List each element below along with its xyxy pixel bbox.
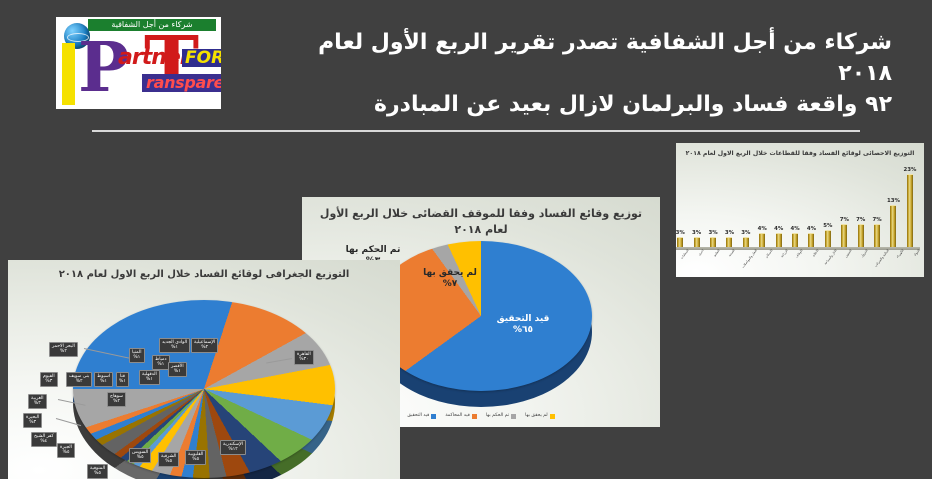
bar	[694, 237, 700, 247]
bar-column: 3%	[721, 164, 737, 247]
slice-value: ٦٥%	[513, 325, 533, 335]
geographic-pie-panel: التوزيع الجغرافى لوقائع الفساد خلال الرب…	[8, 260, 400, 479]
judicial-slice-label-uninvestigated: لم يحقق بها ٧%	[414, 268, 486, 290]
legend-item[interactable]: تم الحكم بها	[486, 413, 516, 419]
bar-column: 23%	[902, 164, 918, 247]
callout-region-value: ٤%	[34, 439, 54, 444]
geographic-slice-callout: السويس٥%	[129, 448, 151, 463]
logo-for-text: FOR	[182, 49, 221, 67]
bar-value-label: 4%	[758, 226, 767, 232]
geographic-slice-callout: الإسماعيلية٢%	[191, 338, 218, 353]
geographic-slice-callout: الإسكندرية١٢%	[220, 440, 246, 455]
callout-region-value: ١٢%	[223, 447, 243, 452]
legend-item[interactable]: قيد التحقيق	[407, 413, 436, 419]
geographic-slice-callout: قنا١%	[116, 372, 129, 387]
legend-swatch	[431, 414, 436, 419]
geographic-slice-callout: كفر الشيخ٤%	[31, 432, 57, 447]
geographic-slice-callout: القليوبية٥%	[185, 450, 206, 465]
legend-label: تم الحكم بها	[486, 413, 509, 419]
bar-column: 3%	[738, 164, 754, 247]
page-title: شركاء من أجل الشفافية تصدر تقرير الربع ا…	[262, 27, 892, 120]
slice-name: قيد التحقيق	[497, 314, 550, 324]
callout-region-value: ١%	[132, 355, 142, 360]
callout-region-value: ٢%	[194, 345, 215, 350]
bar	[726, 237, 732, 247]
logo-artwork: شركاء من أجل الشفافية P artners T FOR ra…	[56, 17, 221, 109]
legend-item[interactable]: لم يحقق بها	[525, 413, 555, 419]
callout-region-value: ١%	[142, 377, 157, 382]
bar-value-label: 3%	[741, 230, 750, 236]
header-divider	[92, 130, 860, 132]
bar	[874, 224, 880, 247]
legend-item[interactable]: قيد المحاكمة	[445, 413, 476, 419]
slice-value: ٧%	[443, 279, 458, 289]
callout-region-value: ٣%	[26, 420, 39, 425]
bar-column: 5%	[820, 164, 836, 247]
callout-region-value: ١%	[155, 362, 167, 367]
bar-value-label: 3%	[725, 230, 734, 236]
geographic-pie-title: التوزيع الجغرافى لوقائع الفساد خلال الرب…	[8, 268, 400, 282]
logo-yellow-bar	[62, 43, 75, 105]
bar-column: 4%	[754, 164, 770, 247]
geographic-slice-callout: دمياط١%	[152, 355, 170, 370]
bar-value-label: 23%	[903, 167, 916, 173]
bar	[858, 224, 864, 247]
bar-value-label: 13%	[887, 198, 900, 204]
geographic-slice-callout: الدقهلية١%	[139, 370, 160, 385]
callout-region-value: ٢%	[52, 349, 75, 354]
callout-region-value: ٥%	[188, 457, 203, 462]
geographic-slice-callout: البحر الاحمر٢%	[49, 342, 78, 357]
bar	[792, 233, 798, 247]
bar-value-label: 7%	[840, 217, 849, 223]
legend-label: قيد التحقيق	[407, 413, 429, 419]
bar-column: 13%	[885, 164, 901, 247]
legend-swatch	[472, 414, 477, 419]
geographic-slice-callout: الفيوم٣%	[40, 372, 58, 387]
judicial-slice-label-investigation: قيد التحقيق ٦٥%	[483, 314, 563, 336]
bar	[710, 237, 716, 247]
sectors-bar-chart-panel: التوزيع الاحصائى لوقائع الفساد وفقا للقط…	[676, 143, 924, 277]
callout-region-value: ٣%	[31, 401, 44, 406]
callout-region-value: ٥%	[90, 471, 105, 476]
bar-column: 3%	[688, 164, 704, 247]
bar-column: 3%	[705, 164, 721, 247]
legend-swatch	[511, 414, 516, 419]
geographic-slice-callout: المنوفية٥%	[87, 464, 108, 479]
callout-region-value: ٣%	[43, 379, 55, 384]
callout-region-value: ٢%	[69, 379, 89, 384]
page-title-line-1: شركاء من أجل الشفافية تصدر تقرير الربع ا…	[262, 27, 892, 89]
slice-name: تم الحكم بها	[346, 245, 401, 255]
callout-region-value: ٥%	[132, 455, 148, 460]
callout-region-value: ٢%	[110, 399, 123, 404]
bar-column: 4%	[787, 164, 803, 247]
logo-transparency-text: ransparency	[142, 74, 221, 92]
bar	[890, 205, 896, 247]
callout-region-value: ١%	[171, 369, 184, 374]
bar	[825, 230, 831, 247]
callout-region-value: ١%	[97, 379, 110, 384]
bar	[743, 237, 749, 247]
callout-region-value: ٣٠%	[297, 357, 311, 362]
geographic-slice-callout: الأقصر١%	[168, 362, 187, 377]
bar-value-label: 3%	[708, 230, 717, 236]
geographic-slice-callout: اسيوط١%	[94, 372, 113, 387]
legend-label: لم يحقق بها	[525, 413, 548, 419]
callout-region-value: ١%	[119, 379, 126, 384]
bar	[907, 174, 913, 247]
geographic-slice-callout: الجيزة٥%	[57, 443, 75, 458]
bar-value-label: 7%	[856, 217, 865, 223]
callout-region-value: ١%	[162, 345, 187, 350]
bar	[808, 233, 814, 247]
bar-column: 7%	[852, 164, 868, 247]
bar-series: 3%3%3%3%3%4%4%4%4%5%7%7%7%13%23%	[676, 164, 920, 247]
bar	[677, 237, 683, 247]
bar-value-label: 4%	[790, 226, 799, 232]
bar	[841, 224, 847, 247]
bar-value-label: 5%	[823, 223, 832, 229]
bar-chart-plot-area: 3%3%3%3%3%4%4%4%4%5%7%7%7%13%23%	[676, 164, 920, 250]
geographic-slice-callout: بنى سويف٢%	[66, 372, 92, 387]
callout-region-value: ٥%	[161, 459, 176, 464]
geographic-slice-callout: البحيرة٣%	[23, 413, 42, 428]
bar	[759, 233, 765, 247]
organization-logo: شركاء من أجل الشفافية P artners T FOR ra…	[56, 17, 221, 109]
slice-name: لم يحقق بها	[423, 268, 477, 278]
bar-chart-title: التوزيع الاحصائى لوقائع الفساد وفقا للقط…	[676, 149, 924, 158]
bar-column: 4%	[803, 164, 819, 247]
bar-column: 3%	[676, 164, 688, 247]
presentation-slide: شركاء من أجل الشفافية P artners T FOR ra…	[0, 0, 932, 479]
geographic-slice-callout: القاهرة٣٠%	[294, 350, 314, 365]
bar-column: 7%	[869, 164, 885, 247]
bar-column: 7%	[836, 164, 852, 247]
bar-value-label: 3%	[692, 230, 701, 236]
bar	[776, 233, 782, 247]
geographic-slice-callout: الوادى الجديد١%	[159, 338, 190, 353]
bar-column: 4%	[770, 164, 786, 247]
geographic-slice-callout: المنيا١%	[129, 348, 145, 363]
bar-chart-category-labels: المحلياتاخرىالتعليمالصحةالنقل والمواصلات…	[676, 249, 920, 275]
geographic-slice-callout: الشرقية٥%	[158, 452, 179, 467]
bar-value-label: 3%	[676, 230, 685, 236]
geographic-slice-callout: الغربية٣%	[28, 394, 47, 409]
bar-value-label: 4%	[774, 226, 783, 232]
legend-label: قيد المحاكمة	[445, 413, 469, 419]
bar-value-label: 7%	[873, 217, 882, 223]
bar-value-label: 4%	[807, 226, 816, 232]
geographic-slice-callout: سوهاج٢%	[107, 392, 126, 407]
legend-swatch	[550, 414, 555, 419]
page-title-line-2: ٩٢ واقعة فساد والبرلمان لازال بعيد عن ال…	[262, 89, 892, 120]
callout-region-value: ٥%	[60, 450, 72, 455]
judicial-pie-title: توزيع وقائع الفساد وفقا للموقف القضائى خ…	[302, 206, 660, 238]
